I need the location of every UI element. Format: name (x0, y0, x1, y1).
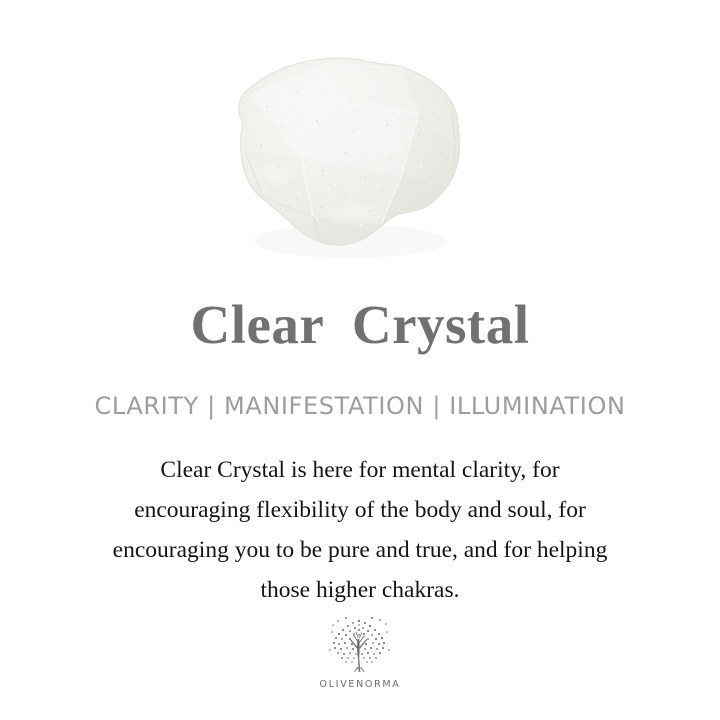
description-line-1: Clear Crystal is here for mental clarity… (40, 450, 680, 490)
description-line-2: encouraging flexibility of the body and … (40, 490, 680, 530)
product-info-card: Clear Crystal CLARITY | MANIFESTATION | … (0, 0, 720, 720)
crystal-body (205, 35, 490, 275)
keyword-line: CLARITY | MANIFESTATION | ILLUMINATION (0, 392, 720, 421)
product-image-area (0, 0, 720, 290)
description-line-3: encouraging you to be pure and true, and… (40, 530, 680, 570)
brand-logo: OLIVENORMA (0, 614, 720, 690)
description-line-4: those higher chakras. (40, 570, 680, 610)
clear-crystal-image (205, 35, 490, 275)
brand-name: OLIVENORMA (0, 679, 720, 690)
product-description: Clear Crystal is here for mental clarity… (40, 450, 680, 610)
product-title: Clear Crystal (0, 296, 720, 354)
olive-tree-icon (324, 614, 396, 676)
